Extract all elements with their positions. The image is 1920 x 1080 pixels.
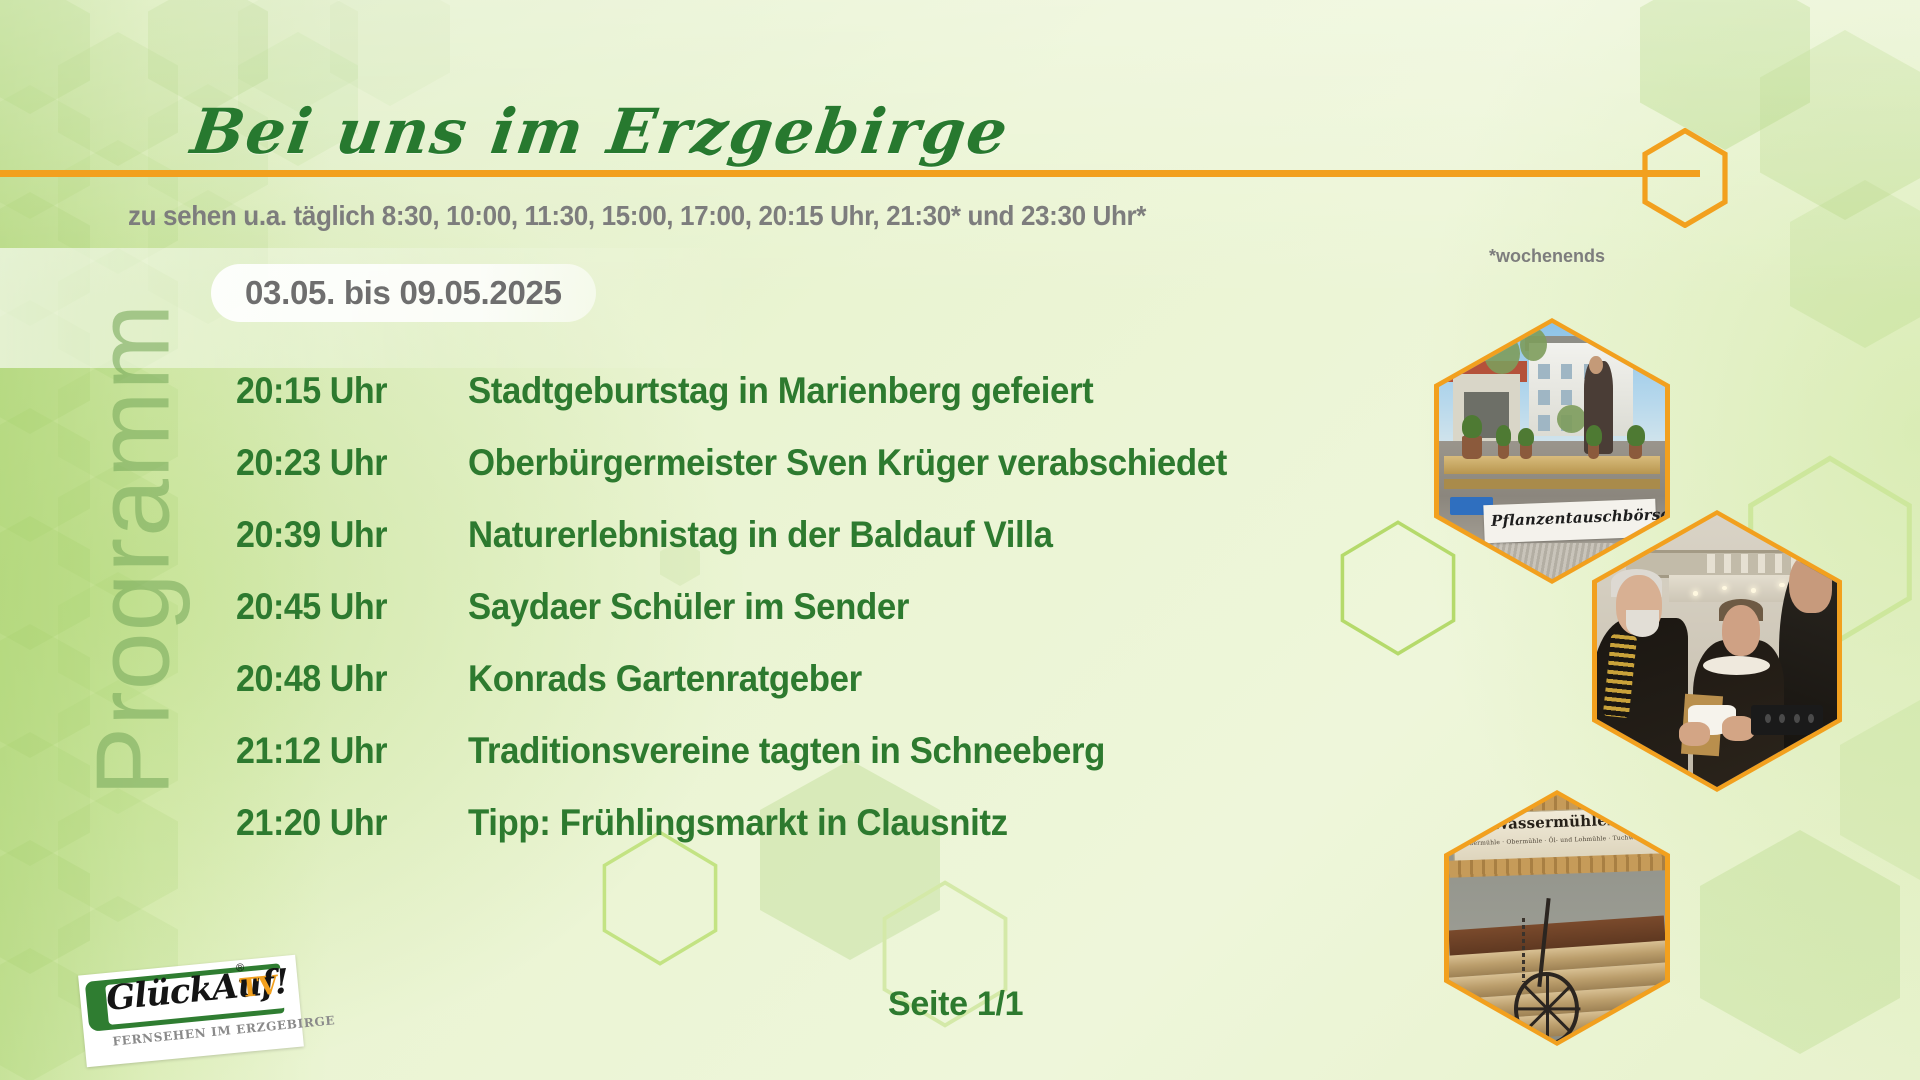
programme-time: 20:45 Uhr (236, 586, 449, 628)
page-indicator: Seite 1/1 (888, 985, 1023, 1024)
programme-title: Traditionsvereine tagten in Schneeberg (468, 730, 1105, 772)
programme-row[interactable]: 21:12 Uhr Traditionsvereine tagten in Sc… (236, 730, 1356, 802)
airtimes-line: zu sehen u.a. täglich 8:30, 10:00, 11:30… (128, 200, 1146, 232)
programme-title: Naturerlebnistag in der Baldauf Villa (468, 514, 1053, 556)
programme-slide: Programm Bei uns im Erzgebirge zu sehen … (0, 0, 1920, 1080)
header-hex-knob-icon (1640, 128, 1730, 228)
logo-tv-suffix: TV (239, 971, 279, 1004)
programme-row[interactable]: 20:48 Uhr Konrads Gartenratgeber (236, 658, 1356, 730)
date-range-text: 03.05. bis 09.05.2025 (245, 274, 562, 312)
programme-time: 21:12 Uhr (236, 730, 449, 772)
programme-time: 21:20 Uhr (236, 802, 449, 844)
programme-title: Oberbürgermeister Sven Krüger verabschie… (468, 442, 1227, 484)
programme-time: 20:23 Uhr (236, 442, 449, 484)
programme-row[interactable]: 20:39 Uhr Naturerlebnistag in der Baldau… (236, 514, 1356, 586)
programme-row[interactable]: 20:23 Uhr Oberbürgermeister Sven Krüger … (236, 442, 1356, 514)
programme-list: 20:15 Uhr Stadtgeburtstag in Marienberg … (236, 370, 1356, 874)
show-title: Bei uns im Erzgebirge (187, 95, 1014, 168)
programme-row[interactable]: 20:15 Uhr Stadtgeburtstag in Marienberg … (236, 370, 1356, 442)
logo-registered-icon: ® (236, 962, 245, 975)
airtimes-footnote: *wochenends (1489, 246, 1605, 267)
programme-time: 20:15 Uhr (236, 370, 449, 412)
programme-title: Stadtgeburtstag in Marienberg gefeiert (468, 370, 1093, 412)
programme-time: 20:48 Uhr (236, 658, 449, 700)
header-divider-line (0, 170, 1700, 177)
programme-row[interactable]: 21:20 Uhr Tipp: Frühlingsmarkt in Clausn… (236, 802, 1356, 874)
date-range-badge: 03.05. bis 09.05.2025 (211, 264, 596, 322)
programme-title: Konrads Gartenratgeber (468, 658, 862, 700)
programme-title: Saydaer Schüler im Sender (468, 586, 909, 628)
programme-time: 20:39 Uhr (236, 514, 449, 556)
programme-row[interactable]: 20:45 Uhr Saydaer Schüler im Sender (236, 586, 1356, 658)
programme-title: Tipp: Frühlingsmarkt in Clausnitz (468, 802, 1008, 844)
